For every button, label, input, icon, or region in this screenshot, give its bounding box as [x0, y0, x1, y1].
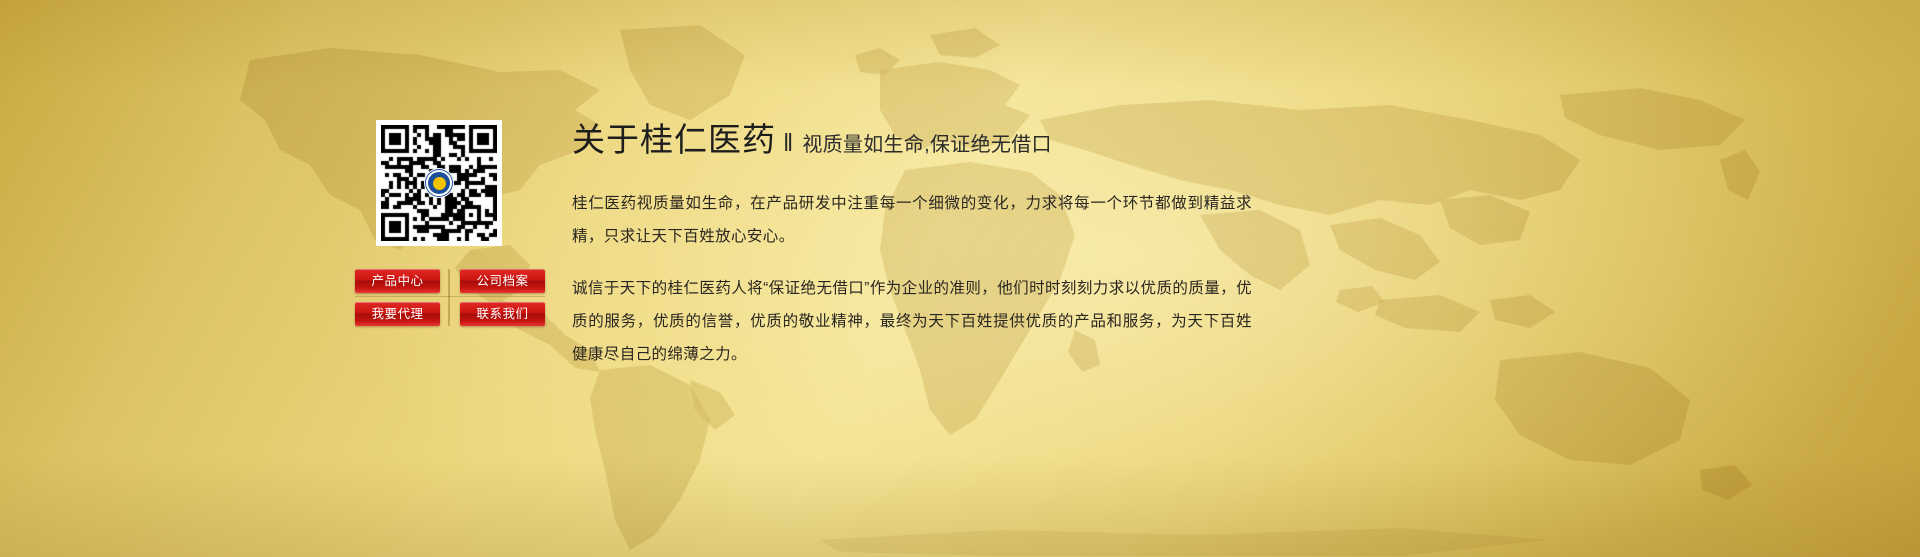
heading-subtitle: 视质量如生命,保证绝无借口 [802, 128, 1051, 157]
heading-separator: ‖ [783, 129, 793, 158]
about-text-block: 关于桂仁医药 ‖ 视质量如生命,保证绝无借口 桂仁医药视质量如生命，在产品研发中… [572, 113, 1252, 371]
about-banner: 产品中心 公司档案 我要代理 联系我们 关于桂仁医药 ‖ 视质量如生命,保证绝无… [0, 0, 1920, 557]
quick-links-row-2: 我要代理 联系我们 [355, 302, 545, 326]
contact-us-button[interactable]: 联系我们 [460, 302, 545, 326]
company-profile-button[interactable]: 公司档案 [460, 269, 545, 293]
become-agent-button[interactable]: 我要代理 [355, 302, 440, 326]
quick-links: 产品中心 公司档案 我要代理 联系我们 [355, 269, 545, 335]
qr-code [376, 120, 502, 246]
about-paragraph-1: 桂仁医药视质量如生命，在产品研发中注重每一个细微的变化，力求将每一个环节都做到精… [572, 187, 1252, 253]
horizontal-divider [355, 296, 545, 297]
page-title: 关于桂仁医药 ‖ 视质量如生命,保证绝无借口 [572, 113, 1252, 161]
quick-links-row-1: 产品中心 公司档案 [355, 269, 545, 293]
about-paragraph-2: 诚信于天下的桂仁医药人将“保证绝无借口”作为企业的准则，他们时时刻刻力求以优质的… [572, 272, 1252, 371]
heading-main: 关于桂仁医药 [572, 113, 776, 161]
product-center-button[interactable]: 产品中心 [355, 269, 440, 293]
vertical-divider [448, 269, 450, 326]
qr-center-logo [424, 168, 454, 198]
